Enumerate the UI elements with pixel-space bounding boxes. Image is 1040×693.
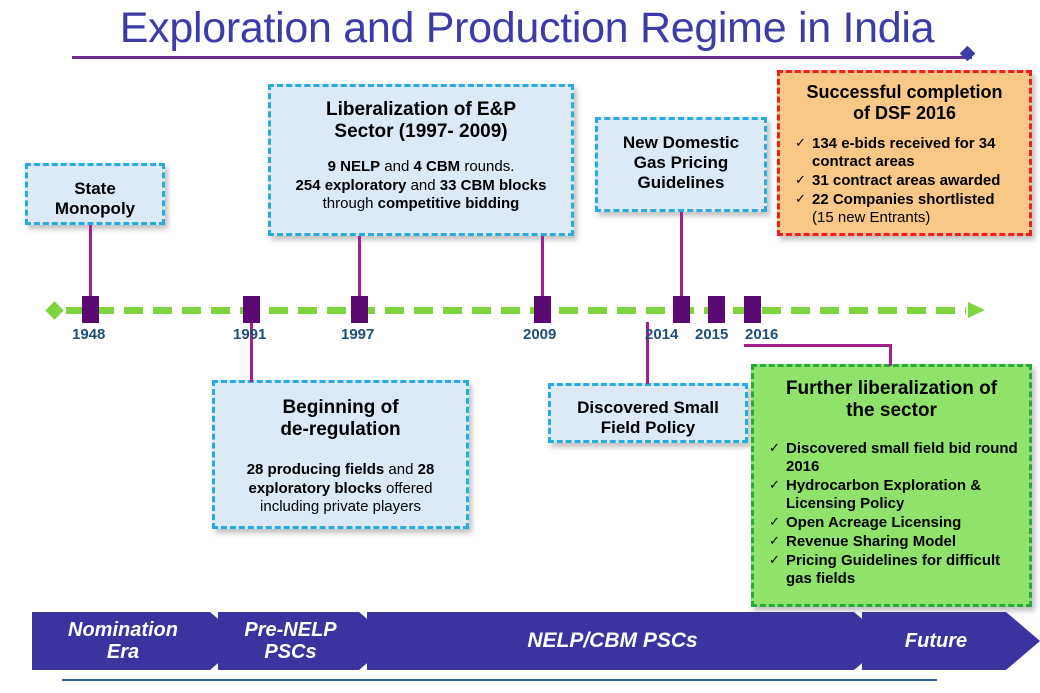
deregulation-title: Beginning of de-regulation [224,397,457,442]
dsf-bullet-2: 31 contract areas awarded [812,172,1000,189]
era-pre-nelp-pscs[interactable]: Pre-NELP PSCs [218,612,393,670]
check-icon: ✓ [769,477,780,493]
page-title: Exploration and Production Regime in Ind… [62,2,992,54]
callout-dsf-2016[interactable]: Successful completion of DSF 2016 ✓ 134 … [777,70,1032,236]
dsf-bullet-1: 134 e-bids received for 34 contract area… [812,135,995,170]
timeline-start-diamond-icon [45,301,63,319]
list-item: ✓ Revenue Sharing Model [769,533,1020,551]
timeline-marker-2016[interactable] [744,296,761,323]
further-lib-bullet-4: Revenue Sharing Model [786,533,956,550]
deregulation-conj: and [384,461,417,478]
check-icon: ✓ [769,514,780,530]
list-item: ✓ 134 e-bids received for 34 contract ar… [795,135,1020,171]
connector-2009 [541,236,544,303]
year-label-1991: 1991 [233,326,266,343]
liberalization-conj-2: and [406,177,439,194]
list-item: ✓ 22 Companies shortlisted (15 new Entra… [795,191,1020,227]
check-icon: ✓ [769,533,780,549]
check-icon: ✓ [795,191,806,207]
liberalization-title: Liberalization of E&P Sector (1997- 2009… [280,99,562,144]
era-future-label: Future [905,630,967,652]
year-label-2009: 2009 [523,326,556,343]
liberalization-bidding-phrase: competitive bidding [378,195,520,212]
era-future[interactable]: Future [862,612,1040,670]
liberalization-cbm-blocks: 33 CBM blocks [440,177,547,194]
title-underline-rule [72,56,972,59]
callout-state-monopoly[interactable]: State Monopoly [25,163,165,225]
dsf-subnote: (15 new Entrants) [812,209,1020,227]
dsf-bullet-list: ✓ 134 e-bids received for 34 contract ar… [789,135,1020,227]
era-band-underline [62,679,937,681]
timeline-marker-2009[interactable] [534,296,551,323]
liberalization-nelp-count: 9 NELP [328,158,381,175]
timeline-marker-1948[interactable] [82,296,99,323]
dsf-bullet-3: 22 Companies shortlisted [812,191,995,208]
year-label-1997: 1997 [341,326,374,343]
callout-gas-pricing-guidelines[interactable]: New Domestic Gas Pricing Guidelines [595,117,767,212]
liberalization-body-line-3: through competitive bidding [280,195,562,214]
liberalization-rounds-word: rounds. [460,158,514,175]
liberalization-body: 9 NELP and 4 CBM rounds. 254 exploratory… [280,158,562,214]
era-nomination-label: Nomination Era [68,619,178,664]
liberalization-conj-1: and [380,158,413,175]
callout-deregulation[interactable]: Beginning of de-regulation 28 producing … [212,380,469,529]
deregulation-body: 28 producing fields and 28 exploratory b… [224,461,457,517]
slide-canvas: Exploration and Production Regime in Ind… [0,0,1040,693]
era-band: Nomination Era Pre-NELP PSCs NELP/CBM PS… [0,612,1040,693]
connector-1997 [358,236,361,303]
list-item: ✓ Pricing Guidelines for difficult gas f… [769,552,1020,588]
gas-pricing-title: New Domestic Gas Pricing Guidelines [607,133,755,193]
list-item: ✓ Hydrocarbon Exploration & Licensing Po… [769,477,1020,513]
deregulation-producing-fields: 28 producing fields [247,461,385,478]
further-lib-bullet-3: Open Acreage Licensing [786,514,961,531]
year-label-2016: 2016 [745,326,778,343]
check-icon: ✓ [795,172,806,188]
list-item: ✓ Open Acreage Licensing [769,514,1020,532]
year-label-2015: 2015 [695,326,728,343]
dsf-title: Successful completion of DSF 2016 [789,82,1020,124]
further-lib-title: Further liberalization of the sector [763,378,1020,423]
year-label-2014: 2014 [645,326,678,343]
further-lib-bullet-list: ✓ Discovered small field bid round 2016 … [763,440,1020,588]
further-lib-bullet-2: Hydrocarbon Exploration & Licensing Poli… [786,477,981,512]
connector-2016-horizontal [744,344,892,347]
list-item: ✓ Discovered small field bid round 2016 [769,440,1020,476]
callout-discovered-small-field-policy[interactable]: Discovered Small Field Policy [548,383,748,443]
callout-further-liberalization[interactable]: Further liberalization of the sector ✓ D… [751,364,1032,607]
liberalization-cbm-count: 4 CBM [414,158,461,175]
connector-1948 [89,225,92,303]
year-label-1948: 1948 [72,326,105,343]
dsfp-title: Discovered Small Field Policy [560,398,736,438]
liberalization-body-line-1: 9 NELP and 4 CBM rounds. [280,158,562,177]
timeline-dashed-line [66,307,966,314]
callout-liberalization[interactable]: Liberalization of E&P Sector (1997- 2009… [268,84,574,236]
timeline-axis [48,303,996,317]
check-icon: ✓ [769,552,780,568]
era-pre-nelp-label: Pre-NELP PSCs [244,619,336,664]
timeline-marker-1997[interactable] [351,296,368,323]
list-item: ✓ 31 contract areas awarded [795,172,1020,190]
further-lib-bullet-5: Pricing Guidelines for difficult gas fie… [786,552,1000,587]
state-monopoly-title: State Monopoly [37,179,153,219]
timeline-marker-2014[interactable] [673,296,690,323]
era-nelp-cbm-pscs[interactable]: NELP/CBM PSCs [367,612,888,670]
liberalization-through-word: through [323,195,378,212]
title-block: Exploration and Production Regime in Ind… [62,2,992,58]
further-lib-bullet-1: Discovered small field bid round 2016 [786,440,1018,475]
era-nelp-label: NELP/CBM PSCs [527,629,697,653]
connector-2014 [680,212,683,303]
liberalization-exploratory-count: 254 exploratory [296,177,407,194]
timeline-arrow-icon [968,302,985,318]
timeline-marker-1991[interactable] [243,296,260,323]
era-nomination[interactable]: Nomination Era [32,612,244,670]
timeline-marker-2015[interactable] [708,296,725,323]
check-icon: ✓ [769,440,780,456]
check-icon: ✓ [795,135,806,151]
connector-2016-vertical [889,344,892,366]
liberalization-body-line-2: 254 exploratory and 33 CBM blocks [280,177,562,196]
